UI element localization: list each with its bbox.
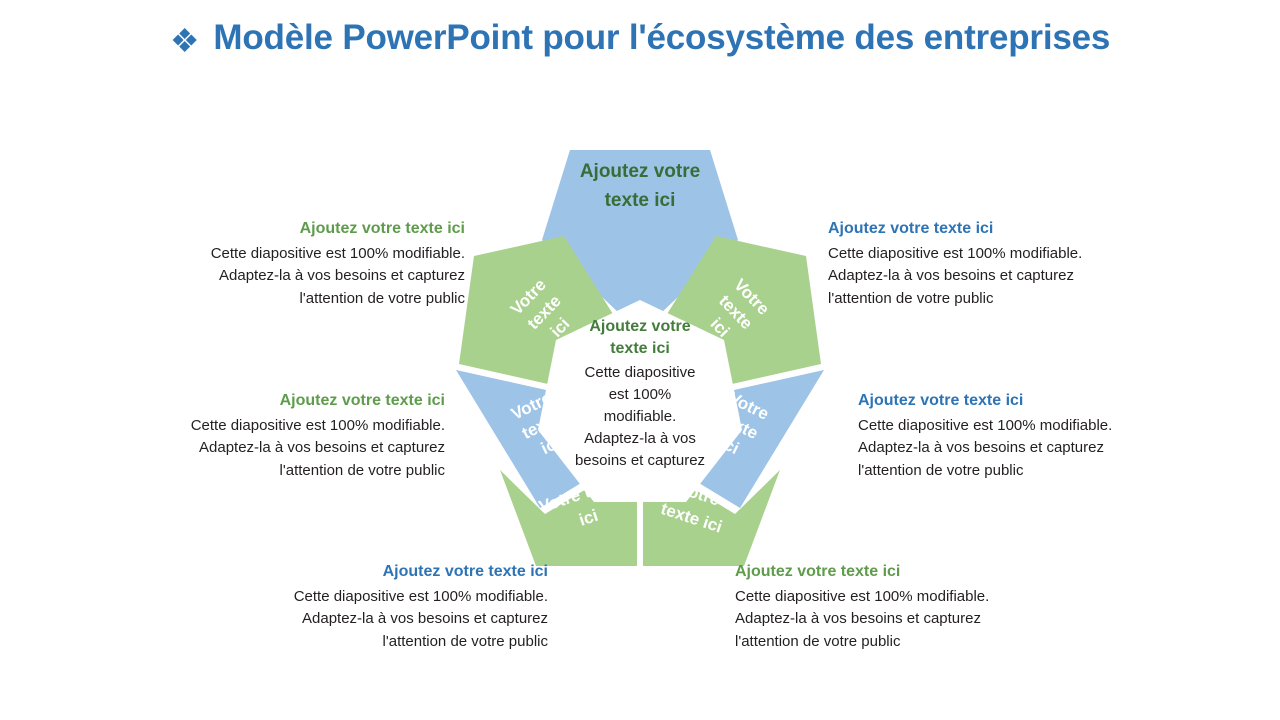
text-block-left-top-body-line1: Cette diapositive est 100% modifiable.: [145, 243, 465, 266]
center-heading-line1: Ajoutez votre: [589, 318, 690, 335]
center-body-line5: besoins et capturez: [575, 452, 705, 469]
text-block-right-mid-body-line1: Cette diapositive est 100% modifiable.: [858, 415, 1198, 438]
text-block-left-mid[interactable]: Ajoutez votre texte ici Cette diapositiv…: [125, 390, 445, 483]
text-block-left-bottom-body-line1: Cette diapositive est 100% modifiable.: [228, 586, 548, 609]
text-block-left-top-body-line3: l'attention de votre public: [145, 288, 465, 311]
text-block-right-bottom-body-line3: l'attention de votre public: [735, 631, 1075, 654]
text-block-right-mid-heading: Ajoutez votre texte ici: [858, 390, 1198, 412]
text-block-left-bottom-heading: Ajoutez votre texte ici: [228, 561, 548, 583]
text-block-left-top-body-line2: Adaptez-la à vos besoins et capturez: [145, 265, 465, 288]
center-body-line2: est 100%: [609, 386, 672, 403]
text-block-right-top-heading: Ajoutez votre texte ici: [828, 218, 1168, 240]
text-block-left-bottom[interactable]: Ajoutez votre texte ici Cette diapositiv…: [228, 561, 548, 654]
text-block-left-bottom-body-line2: Adaptez-la à vos besoins et capturez: [228, 608, 548, 631]
text-block-right-top-body-line3: l'attention de votre public: [828, 288, 1168, 311]
text-block-right-top-body-line1: Cette diapositive est 100% modifiable.: [828, 243, 1168, 266]
center-body-line3: modifiable.: [604, 408, 677, 425]
text-block-right-mid[interactable]: Ajoutez votre texte ici Cette diapositiv…: [858, 390, 1198, 483]
petal-top-label-line2: texte ici: [605, 190, 676, 211]
ecosystem-flower-diagram: Ajoutez votre texte ici Votre texte ici …: [424, 118, 856, 566]
text-block-right-bottom-heading: Ajoutez votre texte ici: [735, 561, 1075, 583]
text-block-right-mid-body-line2: Adaptez-la à vos besoins et capturez: [858, 437, 1198, 460]
text-block-right-bottom-body-line2: Adaptez-la à vos besoins et capturez: [735, 608, 1075, 631]
text-block-right-top[interactable]: Ajoutez votre texte ici Cette diapositiv…: [828, 218, 1168, 311]
text-block-right-bottom-body-line1: Cette diapositive est 100% modifiable.: [735, 586, 1075, 609]
text-block-left-top-heading: Ajoutez votre texte ici: [145, 218, 465, 240]
text-block-left-mid-body-line3: l'attention de votre public: [125, 460, 445, 483]
text-block-right-bottom[interactable]: Ajoutez votre texte ici Cette diapositiv…: [735, 561, 1075, 654]
text-block-left-mid-heading: Ajoutez votre texte ici: [125, 390, 445, 412]
petal-top-label-line1: Ajoutez votre: [580, 161, 700, 182]
text-block-left-bottom-body-line3: l'attention de votre public: [228, 631, 548, 654]
center-heading-line2: texte ici: [610, 340, 670, 357]
text-block-left-mid-body-line1: Cette diapositive est 100% modifiable.: [125, 415, 445, 438]
text-block-left-top[interactable]: Ajoutez votre texte ici Cette diapositiv…: [145, 218, 465, 311]
diamond-bullet-icon: ❖: [170, 24, 200, 57]
center-body-line1: Cette diapositive: [585, 364, 696, 381]
text-block-left-mid-body-line2: Adaptez-la à vos besoins et capturez: [125, 437, 445, 460]
center-body-line4: Adaptez-la à vos: [584, 430, 696, 447]
text-block-right-mid-body-line3: l'attention de votre public: [858, 460, 1198, 483]
page-title: ❖ Modèle PowerPoint pour l'écosystème de…: [0, 18, 1280, 58]
text-block-right-top-body-line2: Adaptez-la à vos besoins et capturez: [828, 265, 1168, 288]
page-title-text: Modèle PowerPoint pour l'écosystème des …: [213, 18, 1110, 58]
